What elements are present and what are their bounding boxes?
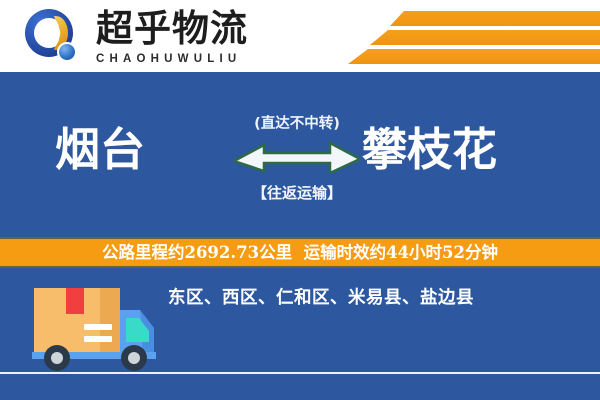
destination-districts-text: 东区、西区、仁和区、米易县、盐边县 [168,284,474,309]
speed-stripe-2-icon [370,30,600,45]
origin-city: 烟台 [55,124,145,176]
brand-lockup: 超乎物流 CHAOHUWULIU [96,8,266,66]
main-blue-panel: 烟台 (直达不中转) 【往返运输】 攀枝花 公路里程约2692.73公里 运输时… [0,72,600,400]
destination-city: 攀枝花 [362,124,497,176]
districts-row: 东区、西区、仁和区、米易县、盐边县 [0,268,600,368]
roundtrip-label: 【往返运输】 [226,182,368,203]
distance-duration-band: 公路里程约2692.73公里 运输时效约44小时52分钟 [0,237,600,268]
brand-name-en: CHAOHUWULIU [96,52,266,66]
distance-duration-text: 公路里程约2692.73公里 运输时效约44小时52分钟 [102,239,498,266]
logo-small-dot [57,42,77,62]
banner-header: 超乎物流 CHAOHUWULIU [0,0,600,72]
delivery-truck-icon [22,276,162,371]
direct-service-label: (直达不中转) [232,112,362,133]
double-headed-arrow-icon [234,139,360,173]
speed-stripe-1-icon [390,11,600,26]
chaohu-circle-logo-icon [25,9,81,65]
route-row: 烟台 (直达不中转) 【往返运输】 攀枝花 [0,72,600,237]
logistics-route-banner: 超乎物流 CHAOHUWULIU 烟台 (直达不中转) 【往返运输】 攀枝花 公… [0,0,600,400]
speed-stripe-3-icon [348,49,600,64]
bottom-divider [0,372,600,374]
route-arrow-block: (直达不中转) 【往返运输】 [232,112,362,217]
brand-name-cn: 超乎物流 [96,8,266,50]
